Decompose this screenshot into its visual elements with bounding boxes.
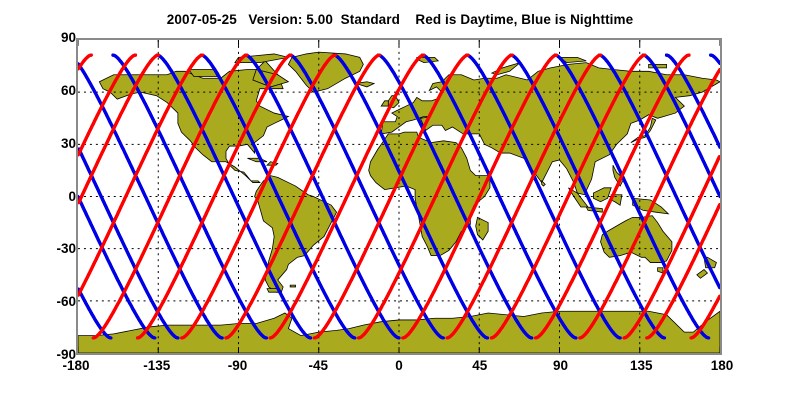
y-tick-label: 90 [14,31,76,45]
x-tick-label: -135 [127,359,187,373]
y-tick-label: -60 [14,295,76,309]
x-tick-label: 45 [450,359,510,373]
ground-track-map-page: 2007-05-25 Version: 5.00 Standard Red is… [0,0,800,400]
x-tick-label: 135 [611,359,671,373]
x-tick-label: 180 [692,359,752,373]
x-tick-label: -90 [208,359,268,373]
x-tick-label: 0 [369,359,429,373]
y-tick-label: 60 [14,84,76,98]
y-tick-label: 0 [14,190,76,204]
x-tick-label: -45 [288,359,348,373]
axis-tick-labels: 9060300-30-60-90-180-135-90-450459013518… [0,0,800,400]
x-tick-label: 90 [531,359,591,373]
x-tick-label: -180 [46,359,106,373]
y-tick-label: 30 [14,137,76,151]
y-tick-label: -30 [14,242,76,256]
